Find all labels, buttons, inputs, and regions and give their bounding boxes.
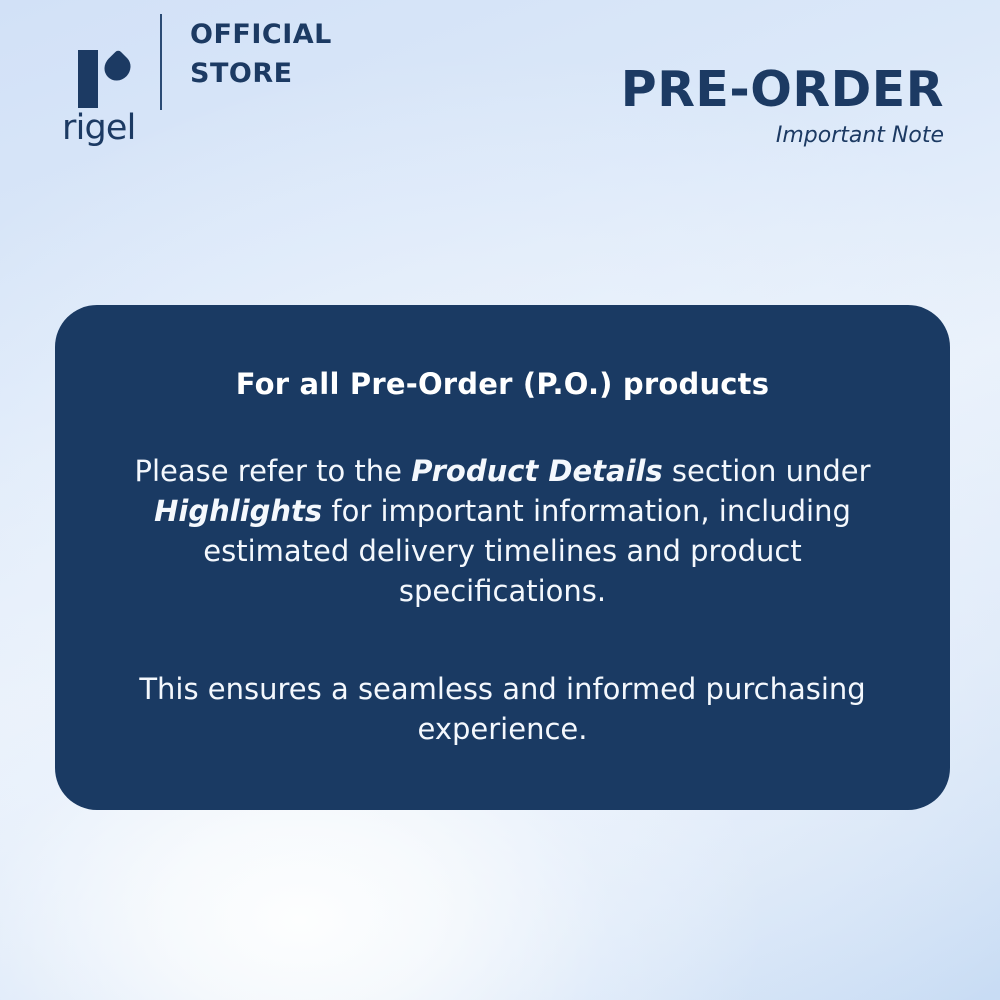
banner-header: rigel OFFICIAL STORE PRE-ORDER Important… bbox=[0, 0, 1000, 190]
paragraph-text-part-2: section under bbox=[663, 454, 871, 488]
brand-divider bbox=[160, 14, 162, 110]
card-heading: For all Pre-Order (P.O.) products bbox=[103, 365, 902, 403]
official-store-line-2: STORE bbox=[190, 54, 332, 93]
page-title: PRE-ORDER bbox=[621, 62, 944, 118]
rigel-droplet-logo-icon bbox=[78, 50, 132, 108]
emphasis-product-details: Product Details bbox=[411, 454, 662, 488]
emphasis-highlights: Highlights bbox=[154, 494, 322, 528]
card-paragraph-primary: Please refer to the Product Details sect… bbox=[103, 451, 902, 611]
card-paragraph-secondary: This ensures a seamless and informed pur… bbox=[103, 669, 902, 749]
promo-banner: rigel OFFICIAL STORE PRE-ORDER Important… bbox=[0, 0, 1000, 1000]
brand-wordmark: rigel bbox=[62, 106, 136, 150]
header-title-block: PRE-ORDER Important Note bbox=[621, 62, 944, 150]
logo-droplet-shape bbox=[99, 49, 136, 86]
page-subtitle: Important Note bbox=[621, 122, 944, 150]
paragraph-text-part-1: Please refer to the bbox=[134, 454, 411, 488]
brand-lockup: rigel bbox=[62, 48, 148, 153]
important-note-card: For all Pre-Order (P.O.) products Please… bbox=[55, 305, 950, 810]
logo-bar-shape bbox=[78, 50, 98, 108]
official-store-line-1: OFFICIAL bbox=[190, 15, 332, 54]
brand-logo: rigel bbox=[62, 48, 148, 153]
official-store-label: OFFICIAL STORE bbox=[190, 15, 332, 93]
